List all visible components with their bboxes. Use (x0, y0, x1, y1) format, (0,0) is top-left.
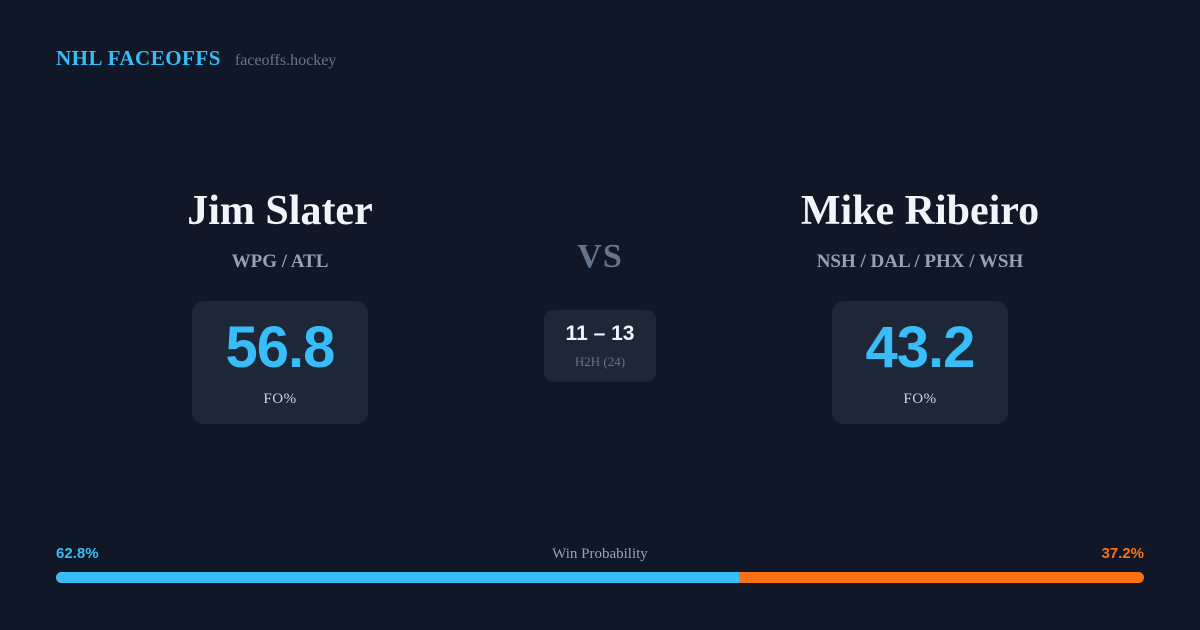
player-teams-left: WPG / ATL (232, 251, 329, 273)
stat-value-right: 43.2 (866, 319, 975, 377)
player-card-right[interactable]: Mike Ribeiro NSH / DAL / PHX / WSH 43.2 … (680, 190, 1160, 424)
player-name-right: Mike Ribeiro (801, 190, 1039, 232)
player-name-left: Jim Slater (187, 190, 372, 232)
head-to-head-record: 11 – 13 (566, 323, 635, 344)
head-to-head-label: H2H (24) (575, 354, 625, 370)
brand-logo[interactable]: NHL FACEOFFS (56, 46, 221, 71)
stat-card-right: 43.2 FO% (832, 301, 1009, 424)
win-probability-section: 62.8% Win Probability 37.2% (56, 545, 1144, 583)
stat-card-left: 56.8 FO% (192, 301, 369, 424)
versus-column: VS 11 – 13 H2H (24) (520, 190, 680, 382)
head-to-head-card: 11 – 13 H2H (24) (544, 310, 657, 382)
win-probability-bar-left-fill (56, 572, 739, 583)
site-domain: faceoffs.hockey (235, 52, 336, 70)
player-card-left[interactable]: Jim Slater WPG / ATL 56.8 FO% (40, 190, 520, 424)
versus-label: VS (577, 240, 622, 274)
stat-label-left: FO% (263, 391, 296, 408)
win-probability-right-value: 37.2% (1101, 545, 1144, 562)
matchup-section: Jim Slater WPG / ATL 56.8 FO% VS 11 – 13… (0, 190, 1200, 424)
site-header: NHL FACEOFFS faceoffs.hockey (56, 46, 336, 71)
stat-label-right: FO% (903, 391, 936, 408)
win-probability-left-value: 62.8% (56, 545, 99, 562)
win-probability-labels: 62.8% Win Probability 37.2% (56, 545, 1144, 563)
win-probability-title: Win Probability (552, 546, 648, 563)
stat-value-left: 56.8 (226, 319, 335, 377)
player-teams-right: NSH / DAL / PHX / WSH (817, 251, 1024, 273)
win-probability-bar (56, 572, 1144, 583)
